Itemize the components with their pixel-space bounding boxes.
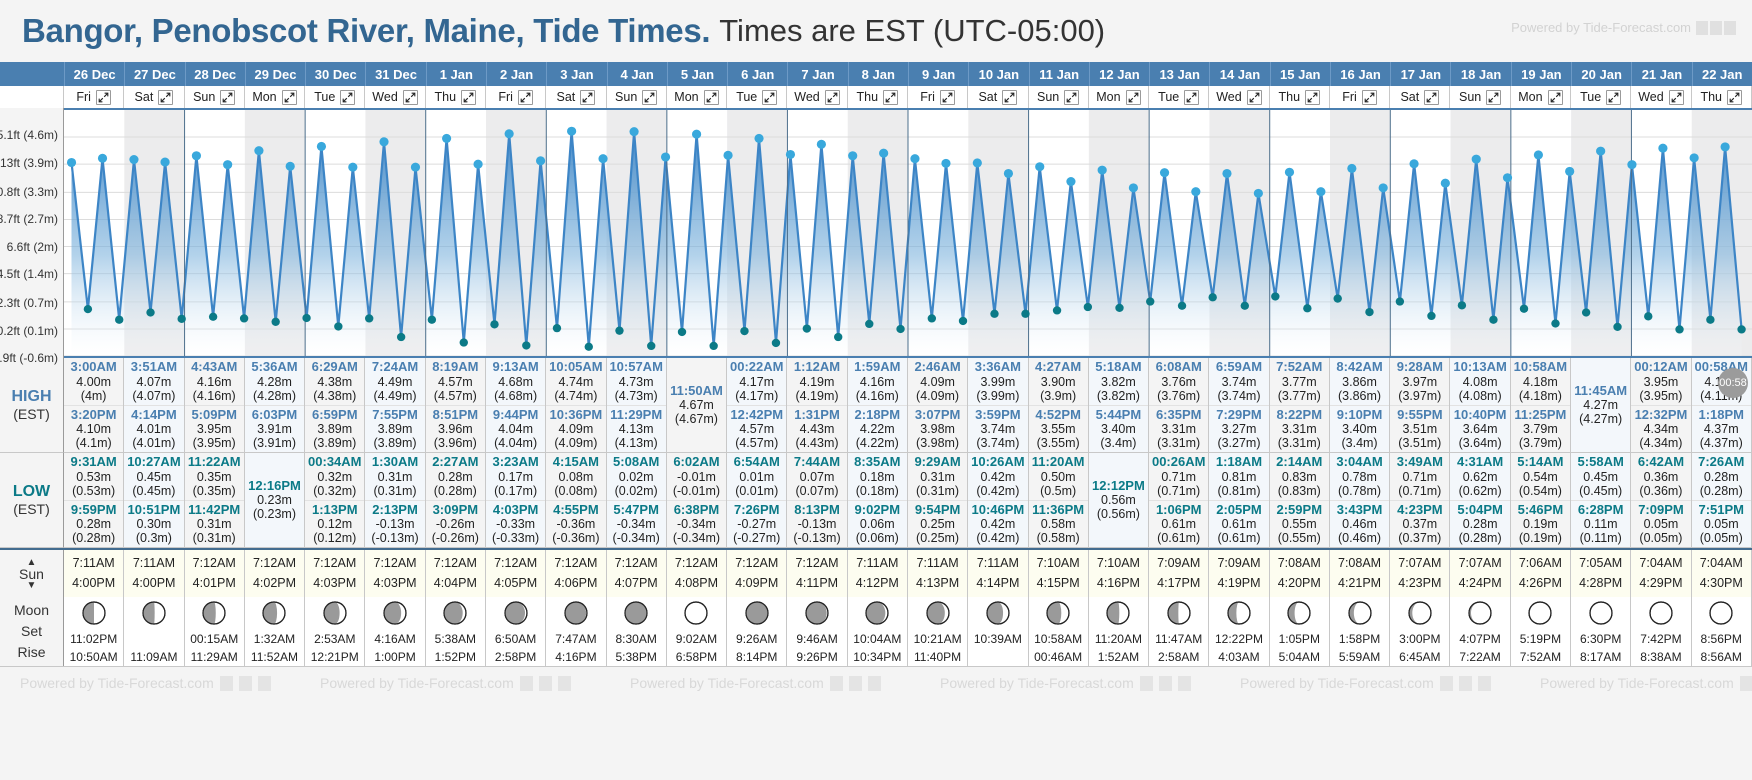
high-tide-time: 3:00AM	[64, 360, 123, 375]
low-tide-height: 0.42m	[968, 470, 1027, 484]
weekday-label: Sun	[615, 90, 637, 104]
low-tide-point[interactable]	[1489, 316, 1497, 324]
high-tide-height-alt: (4.57m)	[727, 436, 786, 450]
date-header-cell[interactable]: 17 Jan	[1390, 62, 1450, 86]
date-header-cell[interactable]: 11 Jan	[1029, 62, 1089, 86]
low-tide-cell: 11:20AM0.50m(0.5m)11:36PM0.58m(0.58m)	[1029, 453, 1089, 548]
expand-day-icon[interactable]	[762, 90, 777, 105]
high-tide-point[interactable]	[1503, 173, 1512, 182]
low-tide-point[interactable]	[1613, 323, 1621, 331]
low-tide-point[interactable]	[1644, 312, 1652, 320]
high-tide-height: 3.82m	[1089, 375, 1148, 389]
low-tide-point[interactable]	[84, 305, 92, 313]
low-tide-point[interactable]	[647, 342, 655, 350]
high-tide-point[interactable]	[1129, 183, 1138, 192]
low-tide-time: 4:31AM	[1450, 455, 1509, 470]
low-tide-point[interactable]	[585, 343, 593, 351]
high-tide-point[interactable]	[1627, 160, 1636, 169]
high-tide-event: 7:52AM3.77m(3.77m)	[1270, 358, 1329, 405]
low-tide-point[interactable]	[834, 333, 842, 341]
expand-day-icon[interactable]	[340, 90, 355, 105]
low-tide-point[interactable]	[1365, 308, 1373, 316]
date-header-cell[interactable]: 8 Jan	[848, 62, 908, 86]
high-tide-point[interactable]	[442, 134, 451, 143]
high-tide-height-alt: (3.89m)	[365, 436, 424, 450]
high-tide-point[interactable]	[1441, 179, 1450, 188]
low-tide-event: 11:36PM0.58m(0.58m)	[1029, 500, 1088, 548]
high-tide-point[interactable]	[379, 137, 388, 146]
high-tide-height: 4.17m	[727, 375, 786, 389]
low-tide-point[interactable]	[177, 315, 185, 323]
high-tide-point[interactable]	[941, 159, 950, 168]
expand-day-icon[interactable]	[1305, 90, 1320, 105]
low-tide-height: 0.05m	[1631, 517, 1690, 531]
expand-day-icon[interactable]	[1126, 90, 1141, 105]
date-header-cell[interactable]: 10 Jan	[968, 62, 1028, 86]
low-tide-point[interactable]	[1146, 297, 1154, 305]
high-tide-point[interactable]	[411, 163, 420, 172]
expand-day-icon[interactable]	[940, 90, 955, 105]
moonrise-time: 1:52PM	[435, 648, 476, 666]
expand-day-icon[interactable]	[461, 90, 476, 105]
low-tide-event: 6:28PM0.11m(0.11m)	[1571, 500, 1630, 548]
low-tide-point[interactable]	[1208, 293, 1216, 301]
low-tide-height-alt: (0.54m)	[1511, 484, 1570, 498]
high-tide-height: 3.74m	[968, 422, 1027, 436]
low-tide-time: 1:06PM	[1149, 503, 1208, 518]
date-header-cell[interactable]: 31 Dec	[365, 62, 425, 86]
low-tide-event: 5:47PM-0.34m(-0.34m)	[607, 500, 666, 548]
moonset-time: 9:46AM	[796, 630, 837, 648]
sun-cell: 7:12AM4:11PM	[787, 550, 847, 597]
chart-plot-area[interactable]	[64, 108, 1752, 358]
moonrise-label-text: Rise	[17, 642, 45, 663]
low-tide-height-alt: (0.31m)	[185, 531, 244, 545]
low-tide-point[interactable]	[1334, 294, 1342, 302]
high-tide-point[interactable]	[348, 163, 357, 172]
moonrise-time: 6:45AM	[1399, 648, 1440, 666]
high-tide-point[interactable]	[1254, 189, 1263, 198]
high-tide-point[interactable]	[1472, 155, 1481, 164]
high-tide-height-alt: (3.27m)	[1209, 436, 1268, 450]
high-tide-point[interactable]	[160, 158, 169, 167]
date-header-cell[interactable]: 15 Jan	[1270, 62, 1330, 86]
low-tide-height: 0.02m	[607, 470, 666, 484]
date-header-cell[interactable]: 5 Jan	[667, 62, 727, 86]
moon-cell: 8:56PM8:56AM	[1692, 597, 1752, 666]
high-tide-height-alt: (4.57m)	[426, 389, 485, 403]
expand-day-icon[interactable]	[825, 90, 840, 105]
date-header-cell[interactable]: 26 Dec	[64, 62, 124, 86]
sunrise-time: 7:12AM	[787, 554, 846, 573]
high-tide-height: 3.27m	[1209, 422, 1268, 436]
sunset-time: 4:20PM	[1270, 574, 1329, 593]
low-tide-height-alt: (0.61m)	[1209, 531, 1268, 545]
high-tide-cell: 5:18AM3.82m(3.82m)5:44PM3.40m(3.4m)	[1089, 358, 1149, 453]
high-tide-time: 6:59AM	[1209, 360, 1268, 375]
expand-day-icon[interactable]	[518, 90, 533, 105]
high-tide-point[interactable]	[848, 151, 857, 160]
date-header-cell[interactable]: 21 Jan	[1631, 62, 1691, 86]
low-tide-event: 4:15AM0.08m(0.08m)	[546, 453, 605, 500]
moonrise-time: 12:21PM	[311, 648, 359, 666]
high-tide-point[interactable]	[1721, 142, 1730, 151]
high-tide-point[interactable]	[629, 127, 638, 136]
high-tide-point[interactable]	[1316, 187, 1325, 196]
low-tide-cell: 6:42AM0.36m(0.36m)7:09PM0.05m(0.05m)	[1631, 453, 1691, 548]
high-tide-height-alt: (3.77m)	[1270, 389, 1329, 403]
high-tide-point[interactable]	[1160, 168, 1169, 177]
high-tide-point[interactable]	[1098, 166, 1107, 175]
high-tide-event: 2:46AM4.09m(4.09m)	[908, 358, 967, 405]
y-axis-tick-label: 0.2ft (0.1m)	[0, 324, 58, 338]
high-tide-height-alt: (4.17m)	[727, 389, 786, 403]
low-tide-height-alt: (0.83m)	[1270, 484, 1329, 498]
high-tide-time: 11:29PM	[607, 408, 666, 423]
low-tide-point[interactable]	[334, 322, 342, 330]
low-tide-point[interactable]	[1675, 325, 1683, 333]
moonrise-time: 8:14PM	[736, 648, 777, 666]
expand-day-icon[interactable]	[282, 90, 297, 105]
weekday-cell: Sat	[546, 86, 606, 108]
high-tide-cell: 3:51AM4.07m(4.07m)4:14PM4.01m(4.01m)	[124, 358, 184, 453]
expand-day-icon[interactable]	[403, 90, 418, 105]
expand-day-icon[interactable]	[1247, 90, 1262, 105]
high-tide-point[interactable]	[1534, 150, 1543, 159]
high-tide-point[interactable]	[1409, 159, 1418, 168]
low-tide-point[interactable]	[865, 320, 873, 328]
moon-phase-icon	[1407, 600, 1433, 630]
expand-day-icon[interactable]	[1669, 90, 1684, 105]
sunrise-time: 7:12AM	[305, 554, 364, 573]
high-tide-height: 3.95m	[185, 422, 244, 436]
low-tide-point[interactable]	[1551, 319, 1559, 327]
sun-cell: 7:12AM4:06PM	[546, 550, 606, 597]
low-tide-point[interactable]	[959, 317, 967, 325]
low-tide-point[interactable]	[1241, 302, 1249, 310]
moonset-label-text: Set	[21, 621, 42, 642]
weekday-label: Wed	[794, 90, 819, 104]
high-tide-point[interactable]	[536, 156, 545, 165]
sun-cell: 7:06AM4:26PM	[1511, 550, 1571, 597]
high-tide-time: 9:28AM	[1390, 360, 1449, 375]
date-header-cell[interactable]: 13 Jan	[1149, 62, 1209, 86]
low-tide-height-alt: (0.36m)	[1631, 484, 1690, 498]
date-header-cell[interactable]: 16 Jan	[1330, 62, 1390, 86]
low-tide-point[interactable]	[896, 325, 904, 333]
high-tide-point[interactable]	[1596, 147, 1605, 156]
sunrise-time: 7:12AM	[667, 554, 726, 573]
moon-cell: 8:30AM5:38PM	[607, 597, 667, 666]
expand-day-icon[interactable]	[96, 90, 111, 105]
low-tide-time: 6:02AM	[667, 455, 726, 470]
expand-day-icon[interactable]	[580, 90, 595, 105]
high-tide-height-alt: (4.34m)	[1631, 436, 1690, 450]
moon-phase-icon	[1648, 600, 1674, 630]
low-tide-height: 0.17m	[486, 470, 545, 484]
high-tide-point[interactable]	[661, 152, 670, 161]
date-header-cell[interactable]: 30 Dec	[305, 62, 365, 86]
high-tide-point[interactable]	[192, 151, 201, 160]
high-tide-point[interactable]	[1066, 177, 1075, 186]
high-tide-point[interactable]	[692, 130, 701, 139]
weekday-cell: Tue	[1149, 86, 1209, 108]
date-header-cell[interactable]: 9 Jan	[908, 62, 968, 86]
low-tide-point[interactable]	[1520, 305, 1528, 313]
low-tide-point[interactable]	[990, 310, 998, 318]
high-tide-point[interactable]	[1347, 164, 1356, 173]
low-tide-point[interactable]	[522, 341, 530, 349]
high-tide-point[interactable]	[910, 154, 919, 163]
expand-day-icon[interactable]	[1727, 90, 1742, 105]
weekday-label: Sun	[1459, 90, 1481, 104]
high-tide-height-alt: (4.49m)	[365, 389, 424, 403]
expand-day-icon[interactable]	[1424, 90, 1439, 105]
high-tide-point[interactable]	[129, 155, 138, 164]
high-tide-point[interactable]	[1379, 183, 1388, 192]
low-tide-point[interactable]	[146, 308, 154, 316]
low-tide-point[interactable]	[302, 314, 310, 322]
mountain-icon	[1478, 676, 1491, 691]
low-tide-point[interactable]	[115, 316, 123, 324]
high-tide-time: 9:44PM	[486, 408, 545, 423]
low-tide-point[interactable]	[740, 327, 748, 335]
low-tide-height: 0.50m	[1029, 470, 1088, 484]
high-tide-cell: 8:19AM4.57m(4.57m)8:51PM3.96m(3.96m)	[426, 358, 486, 453]
sun-cell: 7:11AM4:00PM	[64, 550, 124, 597]
high-tide-point[interactable]	[1035, 162, 1044, 171]
date-header-cell[interactable]: 1 Jan	[426, 62, 486, 86]
low-tide-point[interactable]	[271, 318, 279, 326]
page-header: Bangor, Penobscot River, Maine, Tide Tim…	[0, 0, 1752, 62]
low-tide-height-alt: (0.02m)	[607, 484, 666, 498]
expand-day-icon[interactable]	[1486, 90, 1501, 105]
sunset-time: 4:26PM	[1511, 574, 1570, 593]
low-tide-time: 1:30AM	[365, 455, 424, 470]
date-header-cell[interactable]: 14 Jan	[1209, 62, 1269, 86]
moonset-time: 7:47AM	[555, 630, 596, 648]
date-header-cell[interactable]: 6 Jan	[727, 62, 787, 86]
high-tide-height-alt: (3.79m)	[1511, 436, 1570, 450]
low-tide-point[interactable]	[1084, 303, 1092, 311]
low-tide-point[interactable]	[1396, 297, 1404, 305]
low-tide-height-alt: (0.71m)	[1390, 484, 1449, 498]
high-tide-point[interactable]	[1658, 144, 1667, 153]
expand-day-icon[interactable]	[220, 90, 235, 105]
high-tide-point[interactable]	[973, 158, 982, 167]
weekday-cell: Tue	[305, 86, 365, 108]
low-tide-point[interactable]	[1582, 308, 1590, 316]
low-tide-point[interactable]	[397, 333, 405, 341]
date-header-row: 26 Dec27 Dec28 Dec29 Dec30 Dec31 Dec1 Ja…	[0, 62, 1752, 86]
date-header-cell[interactable]: 27 Dec	[124, 62, 184, 86]
high-tide-cell: 1:12AM4.19m(4.19m)1:31PM4.43m(4.43m)	[787, 358, 847, 453]
high-tide-time: 10:13AM	[1450, 360, 1509, 375]
low-tide-point[interactable]	[365, 314, 373, 322]
high-tide-point[interactable]	[1285, 168, 1294, 177]
high-tide-height: 4.38m	[305, 375, 364, 389]
low-tide-point[interactable]	[1053, 306, 1061, 314]
low-tide-cell: 6:02AM-0.01m(-0.01m)6:38PM-0.34m(-0.34m)	[667, 453, 727, 548]
sun-cell: 7:12AM4:03PM	[305, 550, 365, 597]
moonset-time: 9:26AM	[736, 630, 777, 648]
high-tide-height-alt: (4.43m)	[787, 436, 846, 450]
high-tide-point[interactable]	[1222, 169, 1231, 178]
low-tide-point[interactable]	[460, 338, 468, 346]
date-header-cell[interactable]: 7 Jan	[787, 62, 847, 86]
high-tide-height-alt: (4.16m)	[848, 389, 907, 403]
low-tide-label: LOW (EST)	[0, 453, 64, 548]
low-tide-height: 0.61m	[1149, 517, 1208, 531]
high-tide-time: 4:14PM	[124, 408, 183, 423]
wave-icon	[1740, 676, 1752, 691]
high-tide-point[interactable]	[754, 134, 763, 143]
sun-cell: 7:11AM4:14PM	[968, 550, 1028, 597]
expand-day-icon[interactable]	[704, 90, 719, 105]
date-header-cell[interactable]: 29 Dec	[245, 62, 305, 86]
high-tide-height-alt: (3.4m)	[1330, 436, 1389, 450]
date-header-cell[interactable]: 18 Jan	[1450, 62, 1510, 86]
low-tide-time: 5:58AM	[1571, 455, 1630, 470]
high-tide-event: 11:50AM4.67m(4.67m)	[667, 378, 726, 433]
high-tide-point[interactable]	[317, 142, 326, 151]
high-tide-point[interactable]	[223, 160, 232, 169]
sun-cell: 7:11AM4:12PM	[848, 550, 908, 597]
low-tide-point[interactable]	[678, 328, 686, 336]
high-tide-point[interactable]	[286, 162, 295, 171]
expand-day-icon[interactable]	[883, 90, 898, 105]
high-tide-height-alt: (4.08m)	[1450, 389, 1509, 403]
high-tide-point[interactable]	[505, 129, 514, 138]
timezone-note: Times are EST (UTC-05:00)	[719, 13, 1105, 49]
high-tide-event: 7:55PM3.89m(3.89m)	[365, 405, 424, 453]
expand-day-icon[interactable]	[1184, 90, 1199, 105]
date-header-cell[interactable]: 22 Jan	[1692, 62, 1752, 86]
low-tide-point[interactable]	[803, 324, 811, 332]
low-tide-point[interactable]	[615, 327, 623, 335]
low-tide-point[interactable]	[553, 324, 561, 332]
low-tide-time: 9:31AM	[64, 455, 123, 470]
expand-day-icon[interactable]	[1064, 90, 1079, 105]
low-tide-point[interactable]	[1271, 292, 1279, 300]
high-tide-height: 4.16m	[848, 375, 907, 389]
expand-day-icon[interactable]	[642, 90, 657, 105]
high-tide-height-alt: (3.55m)	[1029, 436, 1088, 450]
low-tide-point[interactable]	[1706, 316, 1714, 324]
date-header-cell[interactable]: 4 Jan	[607, 62, 667, 86]
low-tide-time: 6:54AM	[727, 455, 786, 470]
high-tide-point[interactable]	[1191, 187, 1200, 196]
high-tide-time: 7:55PM	[365, 408, 424, 423]
high-tide-point[interactable]	[598, 154, 607, 163]
low-tide-height: 0.45m	[1571, 470, 1630, 484]
low-tide-point[interactable]	[772, 339, 780, 347]
high-tide-point[interactable]	[786, 150, 795, 159]
sunset-time: 4:17PM	[1149, 574, 1208, 593]
date-header-cell[interactable]: 19 Jan	[1511, 62, 1571, 86]
high-tide-point[interactable]	[1565, 167, 1574, 176]
low-tide-height: 0.31m	[908, 470, 967, 484]
low-tide-time: 3:43PM	[1330, 503, 1389, 518]
low-tide-point[interactable]	[240, 314, 248, 322]
low-tide-time: 10:26AM	[968, 455, 1027, 470]
expand-day-icon[interactable]	[1362, 90, 1377, 105]
low-tide-point[interactable]	[1427, 312, 1435, 320]
high-tide-height-alt: (4.27m)	[1571, 412, 1630, 426]
high-tide-height-alt: (3.98m)	[908, 436, 967, 450]
high-tide-height-alt: (3.82m)	[1089, 389, 1148, 403]
low-tide-point[interactable]	[928, 314, 936, 322]
weekday-label: Wed	[1638, 90, 1663, 104]
high-tide-point[interactable]	[67, 158, 76, 167]
high-tide-height: 4.57m	[426, 375, 485, 389]
low-tide-point[interactable]	[1737, 325, 1745, 333]
high-tide-point[interactable]	[879, 149, 888, 158]
low-tide-point[interactable]	[209, 313, 217, 321]
high-tide-cell: 1:59AM4.16m(4.16m)2:18PM4.22m(4.22m)	[848, 358, 908, 453]
date-header-cell[interactable]: 12 Jan	[1089, 62, 1149, 86]
date-header-cell[interactable]: 28 Dec	[185, 62, 245, 86]
high-tide-height: 3.99m	[968, 375, 1027, 389]
date-header-cell[interactable]: 3 Jan	[546, 62, 606, 86]
low-tide-point[interactable]	[1178, 302, 1186, 310]
expand-day-icon[interactable]	[1606, 90, 1621, 105]
high-tide-height: 4.19m	[787, 375, 846, 389]
high-tide-event: 6:08AM3.76m(3.76m)	[1149, 358, 1208, 405]
high-tide-point[interactable]	[1690, 153, 1699, 162]
expand-day-icon[interactable]	[1548, 90, 1563, 105]
low-tide-height: 0.07m	[787, 470, 846, 484]
high-tide-point[interactable]	[567, 127, 576, 136]
low-tide-height: 0.08m	[546, 470, 605, 484]
low-tide-point[interactable]	[490, 320, 498, 328]
high-tide-point[interactable]	[817, 140, 826, 149]
low-tide-event: 6:54AM0.01m(0.01m)	[727, 453, 786, 500]
expand-day-icon[interactable]	[1002, 90, 1017, 105]
low-tide-point[interactable]	[709, 342, 717, 350]
high-tide-cell: 6:59AM3.74m(3.74m)7:29PM3.27m(3.27m)	[1209, 358, 1269, 453]
low-tide-point[interactable]	[1303, 304, 1311, 312]
low-tide-event: 7:09PM0.05m(0.05m)	[1631, 500, 1690, 548]
weekday-cell: Sun	[607, 86, 667, 108]
high-tide-point[interactable]	[723, 151, 732, 160]
date-header-cell[interactable]: 2 Jan	[486, 62, 546, 86]
sun-cell: 7:12AM4:09PM	[727, 550, 787, 597]
date-header-cell[interactable]: 20 Jan	[1571, 62, 1631, 86]
high-tide-point[interactable]	[473, 160, 482, 169]
y-axis-tick-label: -1.9ft (-0.6m)	[0, 351, 58, 365]
high-tide-point[interactable]	[254, 146, 263, 155]
expand-day-icon[interactable]	[158, 90, 173, 105]
current-time-badge: 00:58	[1718, 368, 1748, 398]
low-tide-cell: 1:18AM0.81m(0.81m)2:05PM0.61m(0.61m)	[1209, 453, 1269, 548]
moon-cell: 11:20AM1:52AM	[1089, 597, 1149, 666]
high-tide-event: 3:51AM4.07m(4.07m)	[124, 358, 183, 405]
high-tide-point[interactable]	[1004, 169, 1013, 178]
high-tide-height: 4.57m	[727, 422, 786, 436]
low-tide-point[interactable]	[428, 316, 436, 324]
low-tide-height: 0.37m	[1390, 517, 1449, 531]
low-tide-point[interactable]	[1458, 301, 1466, 309]
high-tide-height: 4.22m	[848, 422, 907, 436]
low-tide-point[interactable]	[1115, 304, 1123, 312]
low-tide-time: 4:55PM	[546, 503, 605, 518]
high-tide-cell: 9:13AM4.68m(4.68m)9:44PM4.04m(4.04m)	[486, 358, 546, 453]
low-tide-point[interactable]	[1021, 310, 1029, 318]
high-tide-event: 9:13AM4.68m(4.68m)	[486, 358, 545, 405]
high-tide-point[interactable]	[98, 154, 107, 163]
high-tide-height: 3.31m	[1149, 422, 1208, 436]
